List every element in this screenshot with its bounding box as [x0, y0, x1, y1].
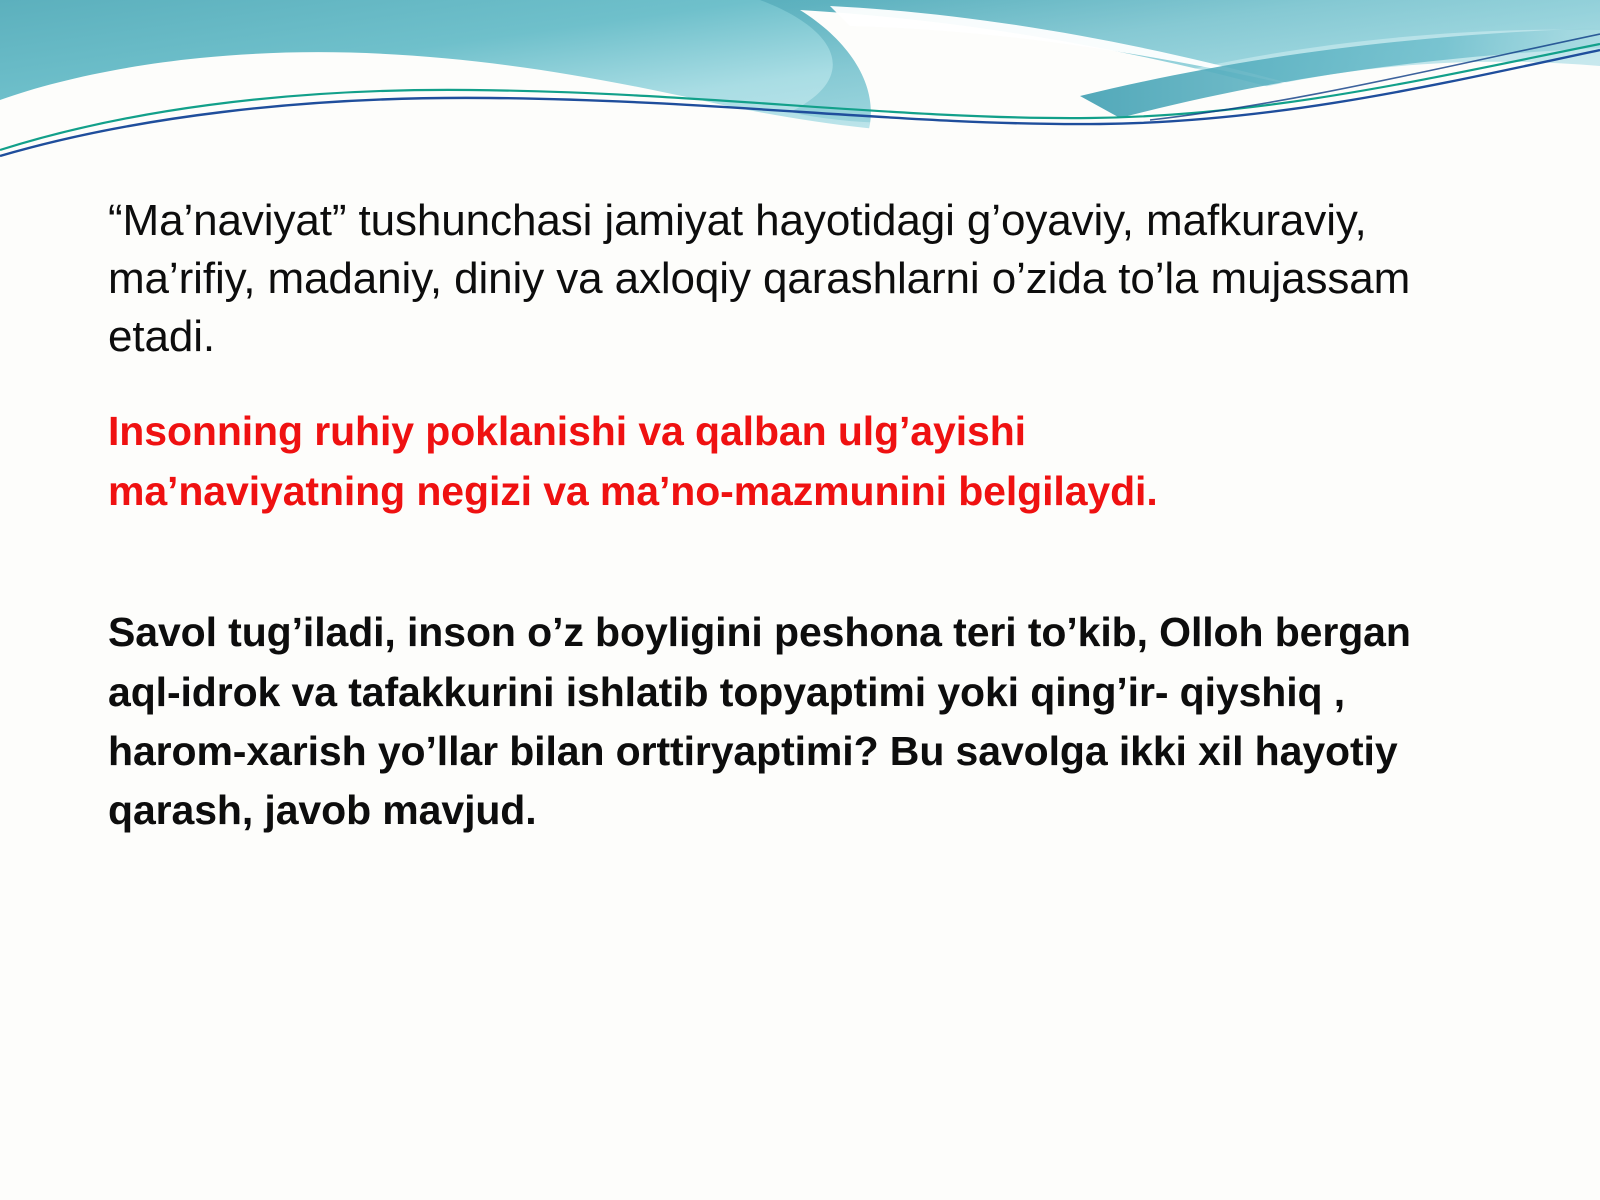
presentation-slide: “Ma’naviyat” tushunchasi jamiyat hayotid…: [0, 0, 1600, 1200]
paragraph-question: Savol tug’iladi, inson o’z boyligini pes…: [108, 603, 1468, 841]
teal-wave-graphic: [0, 0, 1600, 190]
header-decoration: [0, 0, 1600, 190]
paragraph-highlight: Insonning ruhiy poklanishi va qalban ulg…: [108, 402, 1318, 521]
slide-body: “Ma’naviyat” tushunchasi jamiyat hayotid…: [108, 192, 1468, 841]
paragraph-intro: “Ma’naviyat” tushunchasi jamiyat hayotid…: [108, 192, 1448, 366]
